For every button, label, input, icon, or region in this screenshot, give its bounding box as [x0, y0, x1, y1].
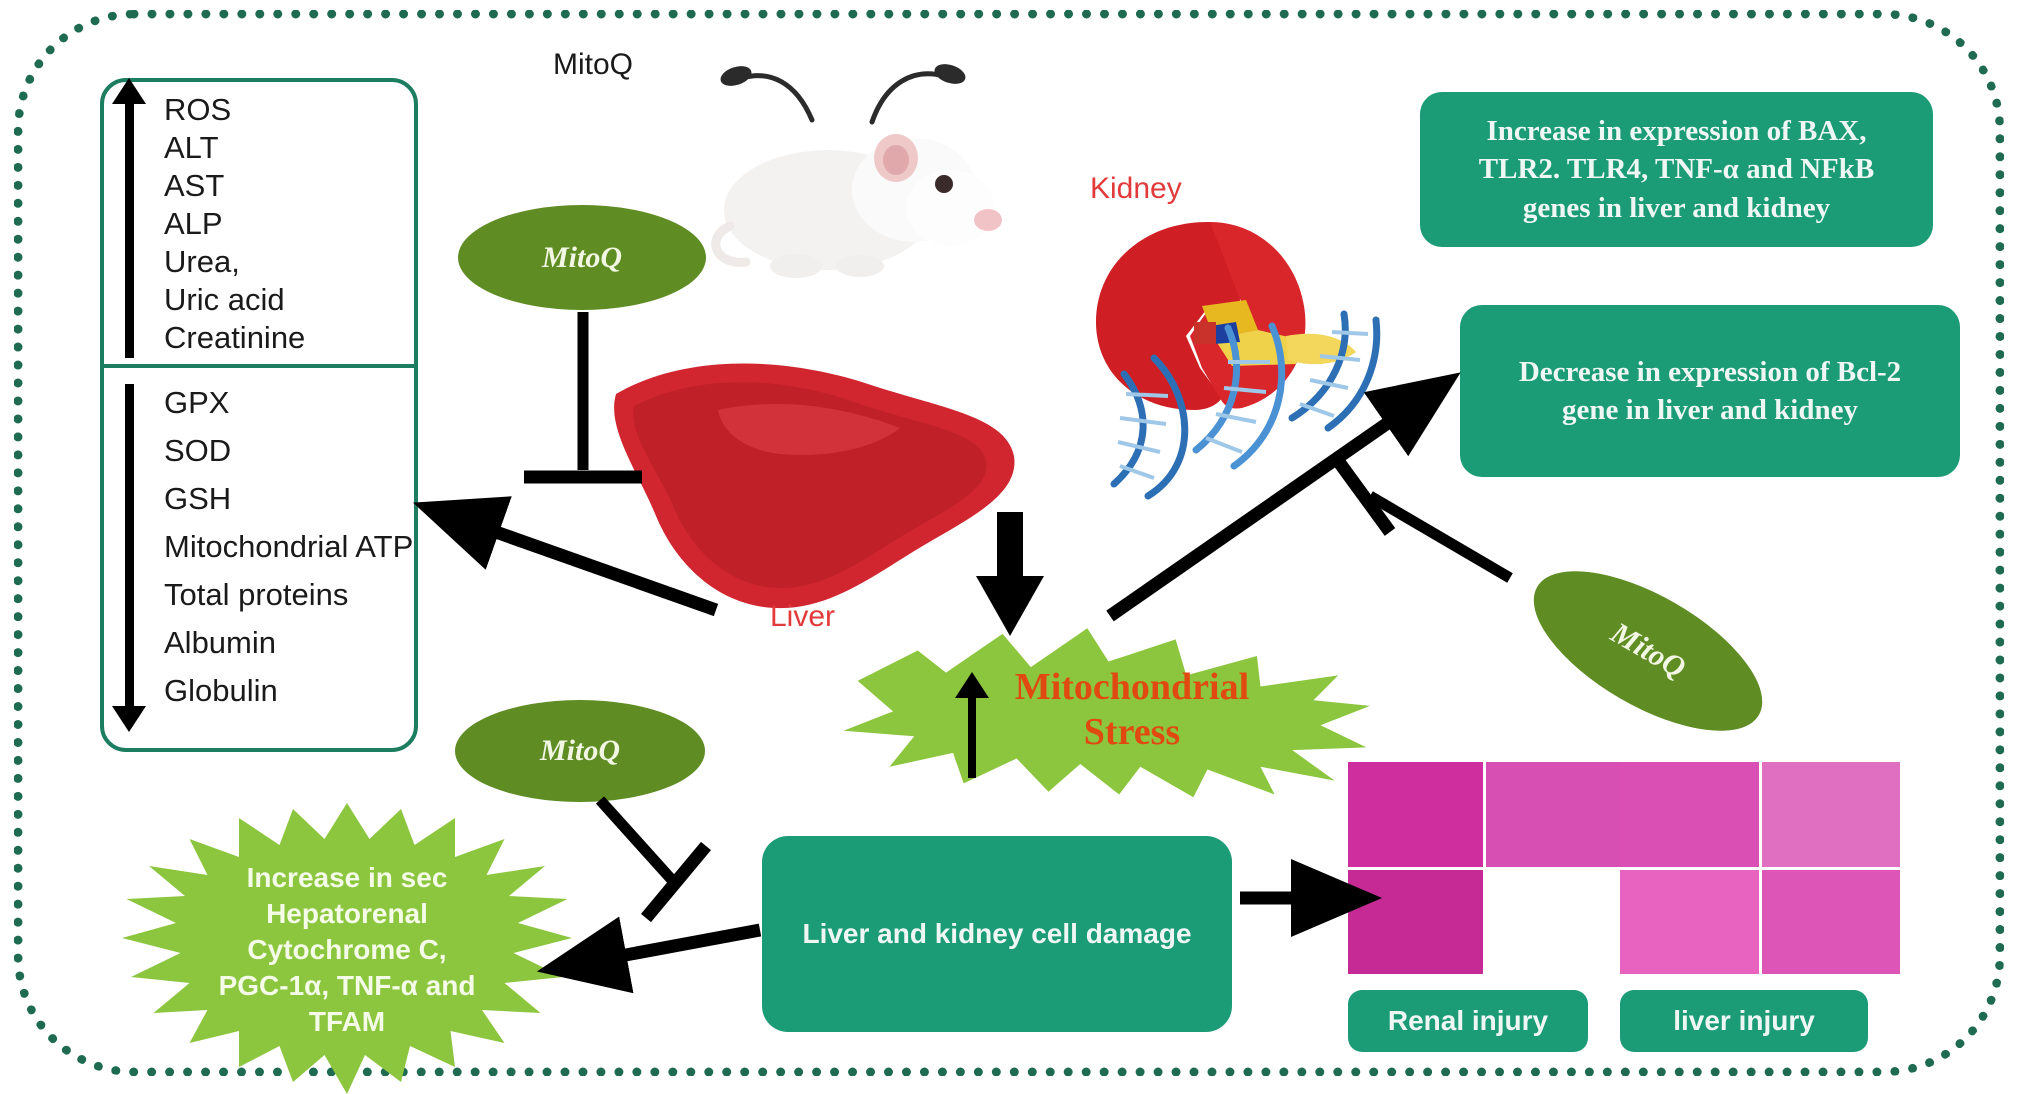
- burst-line: Hepatorenal: [219, 896, 476, 932]
- histology-tile: [1620, 870, 1759, 975]
- mitochondrial-stress-burst: Mitochondrial Stress: [840, 620, 1370, 800]
- bcl2-expression-box: Decrease in expression of Bcl-2 gene in …: [1460, 305, 1960, 477]
- box-line: TLR2. TLR4, TNF-α and NFkB: [1479, 150, 1874, 188]
- histology-tile: [1620, 762, 1759, 867]
- liver-histology-images: [1620, 762, 1900, 974]
- decrease-arrow-head-icon: [112, 706, 146, 732]
- liver-label: Liver: [770, 600, 835, 634]
- burst-line: Cytochrome C,: [219, 932, 476, 968]
- histology-tile: [1486, 762, 1621, 867]
- decreased-markers-list: GPX SOD GSH Mitochondrial ATP Total prot…: [164, 378, 413, 714]
- list-item: Creatinine: [164, 318, 305, 356]
- list-item: Uric acid: [164, 280, 305, 318]
- decrease-arrow-shaft-icon: [125, 384, 134, 712]
- list-item: AST: [164, 166, 305, 204]
- burst-line: Stress: [1015, 710, 1249, 755]
- burst-line: Increase in sec: [219, 860, 476, 896]
- increased-markers-list: ROS ALT AST ALP Urea, Uric acid Creatini…: [164, 90, 305, 356]
- burst-text: Mitochondrial Stress: [961, 665, 1249, 755]
- box-line: Decrease in expression of Bcl-2: [1519, 353, 1901, 391]
- box-line: genes in liver and kidney: [1479, 189, 1874, 227]
- burst-line: PGC-1α, TNF-α and: [219, 968, 476, 1004]
- rat-illustration: [700, 60, 1030, 300]
- list-item: ALT: [164, 128, 305, 166]
- biomarker-panel-divider: [100, 364, 418, 368]
- page-title: MitoQ: [553, 48, 633, 82]
- histology-tile: [1762, 762, 1901, 867]
- dna-helix-illustration: [1096, 300, 1386, 500]
- list-item: GPX: [164, 378, 413, 426]
- mitoq-node-upper-left[interactable]: MitoQ: [458, 205, 706, 310]
- list-item: ALP: [164, 204, 305, 242]
- burst-text: Increase in sec Hepatorenal Cytochrome C…: [219, 860, 476, 1039]
- box-line: Increase in expression of BAX,: [1479, 112, 1874, 150]
- increase-arrow-shaft-icon: [125, 96, 134, 358]
- burst-line: Mitochondrial: [1015, 665, 1249, 710]
- bax-expression-box: Increase in expression of BAX, TLR2. TLR…: [1420, 92, 1933, 247]
- histology-tile: [1762, 870, 1901, 975]
- liver-illustration: [600, 350, 1020, 640]
- stress-increase-arrow-shaft-icon: [968, 692, 976, 778]
- list-item: Mitochondrial ATP: [164, 522, 413, 570]
- hepatorenal-increase-burst: Increase in sec Hepatorenal Cytochrome C…: [122, 800, 572, 1094]
- list-item: Albumin: [164, 618, 413, 666]
- burst-line: TFAM: [219, 1004, 476, 1040]
- mitoq-node-lower-left[interactable]: MitoQ: [455, 700, 705, 802]
- list-item: Globulin: [164, 666, 413, 714]
- histology-tile-empty: [1486, 870, 1621, 975]
- renal-injury-label: Renal injury: [1348, 990, 1588, 1052]
- histology-tile: [1348, 870, 1483, 975]
- list-item: Urea,: [164, 242, 305, 280]
- list-item: GSH: [164, 474, 413, 522]
- liver-injury-label: liver injury: [1620, 990, 1868, 1052]
- diagram-canvas: ROS ALT AST ALP Urea, Uric acid Creatini…: [0, 0, 2032, 1094]
- list-item: Total proteins: [164, 570, 413, 618]
- kidney-label: Kidney: [1090, 172, 1182, 206]
- cell-damage-box: Liver and kidney cell damage: [762, 836, 1232, 1032]
- list-item: SOD: [164, 426, 413, 474]
- box-line: gene in liver and kidney: [1519, 391, 1901, 429]
- list-item: ROS: [164, 90, 305, 128]
- renal-histology-images: [1348, 762, 1620, 974]
